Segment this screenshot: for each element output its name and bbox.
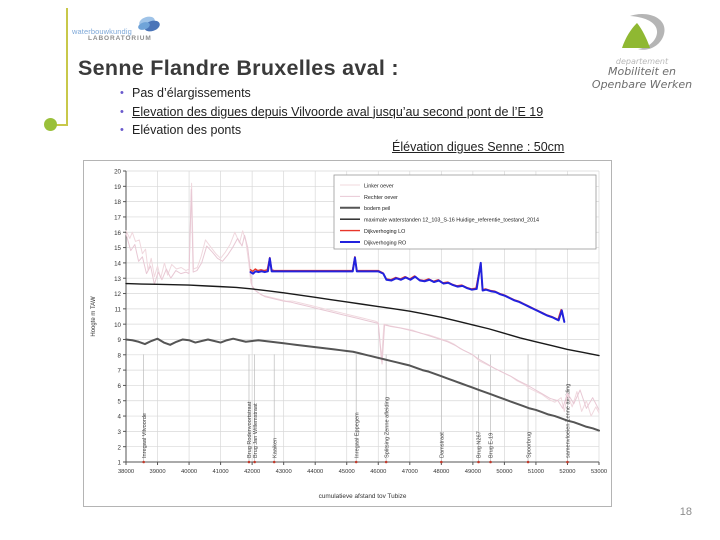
slide-number: 18 xyxy=(680,506,692,518)
mow-logo-mark xyxy=(614,12,670,56)
x-tick-label: 48000 xyxy=(433,469,449,475)
annotation-marker xyxy=(527,461,530,464)
y-axis-label: Hoogte m TAW xyxy=(91,296,97,337)
series-line xyxy=(251,258,565,322)
y-tick-label: 3 xyxy=(118,429,122,436)
annotation-label: Spoorbrug xyxy=(526,432,532,458)
bullet-text: Pas d’élargissements xyxy=(132,86,251,101)
x-tick-label: 38000 xyxy=(118,469,134,475)
mow-line-1: Mobiliteit en xyxy=(582,66,702,79)
accent-dot xyxy=(44,118,57,131)
legend-label: Dijkverhoging RO xyxy=(364,240,406,246)
y-tick-label: 17 xyxy=(114,215,121,222)
x-tick-label: 42000 xyxy=(244,469,260,475)
bullet-item: •Elévation des ponts xyxy=(120,123,620,138)
annotation-marker xyxy=(248,461,251,464)
y-tick-label: 15 xyxy=(114,245,121,252)
annotation-marker xyxy=(273,461,276,464)
legend-label: bodem peil xyxy=(364,206,390,212)
bullet-text: Elévation des ponts xyxy=(132,123,241,138)
x-tick-label: 41000 xyxy=(213,469,229,475)
annotation-marker xyxy=(355,461,358,464)
annotation-marker xyxy=(385,461,388,464)
chart-svg: 1234567891011121314151617181920380003900… xyxy=(84,161,611,506)
legend-label: Linker oever xyxy=(364,183,394,189)
y-tick-label: 18 xyxy=(114,199,121,206)
y-tick-label: 9 xyxy=(118,337,122,344)
annotation-label: Damstraat xyxy=(440,432,446,458)
bullet-list: •Pas d’élargissements•Elevation des digu… xyxy=(120,86,620,142)
x-tick-label: 47000 xyxy=(402,469,418,475)
y-tick-label: 12 xyxy=(114,291,121,298)
y-tick-label: 4 xyxy=(118,414,122,421)
annotation-label: Kaaiken xyxy=(272,438,278,458)
x-tick-label: 51000 xyxy=(528,469,544,475)
annotation-label: Brug Jan Willemstraat xyxy=(253,403,259,458)
x-tick-label: 49000 xyxy=(465,469,481,475)
annotation-marker xyxy=(142,461,145,464)
y-tick-label: 8 xyxy=(118,352,122,359)
legend-label: Dijkverhoging LO xyxy=(364,229,405,235)
y-tick-label: 16 xyxy=(114,230,121,237)
slide: waterbouwkundig LABORATORIUM departement… xyxy=(0,0,720,540)
page-title: Senne Flandre Bruxelles aval : xyxy=(78,56,399,81)
bullet-item: •Elevation des digues depuis Vilvoorde a… xyxy=(120,105,620,120)
mow-logo: departement Mobiliteit en Openbare Werke… xyxy=(582,12,702,94)
y-tick-label: 20 xyxy=(114,169,121,176)
bullet-text: Elevation des digues depuis Vilvoorde av… xyxy=(132,105,543,120)
x-tick-label: 53000 xyxy=(591,469,607,475)
annotation-label: Inregaal Eppegem xyxy=(354,412,360,458)
x-tick-label: 46000 xyxy=(370,469,386,475)
y-tick-label: 2 xyxy=(118,444,122,451)
annotation-label: Splitsing Zenne afleiding xyxy=(384,397,390,458)
x-tick-label: 45000 xyxy=(339,469,355,475)
x-axis-label: cumulatieve afstand tov Tubize xyxy=(319,493,407,500)
waterbouwkundig-logo-subtitle: LABORATORIUM xyxy=(88,35,152,42)
y-tick-label: 11 xyxy=(115,306,122,313)
y-tick-label: 1 xyxy=(118,460,122,467)
y-tick-label: 6 xyxy=(118,383,122,390)
waterbouwkundig-logo-mark xyxy=(134,16,162,34)
annotation-marker xyxy=(253,461,256,464)
x-tick-label: 52000 xyxy=(559,469,575,475)
bullet-item: •Pas d’élargissements xyxy=(120,86,620,101)
annotation-label: Inregaal Vilvoorde xyxy=(142,413,148,458)
x-tick-label: 44000 xyxy=(307,469,323,475)
x-tick-label: 43000 xyxy=(276,469,292,475)
chart-container: 1234567891011121314151617181920380003900… xyxy=(83,160,612,507)
annotation-marker xyxy=(566,461,569,464)
accent-vertical-line xyxy=(66,8,68,126)
legend-label: maximale waterstanden 12_103_S-16 Huidig… xyxy=(364,218,539,224)
y-tick-label: 14 xyxy=(114,260,121,267)
y-tick-label: 7 xyxy=(118,368,122,375)
bullet-dot-icon: • xyxy=(120,86,132,101)
x-tick-label: 50000 xyxy=(496,469,512,475)
legend-label: Rechter oever xyxy=(364,195,398,201)
waterbouwkundig-logo: waterbouwkundig LABORATORIUM xyxy=(72,16,164,48)
bullet-dot-icon: • xyxy=(120,105,132,120)
annotation-label: Brug N267 xyxy=(477,431,483,458)
annotation-marker xyxy=(440,461,443,464)
x-tick-label: 39000 xyxy=(149,469,165,475)
annotation-marker xyxy=(477,461,480,464)
chart-subtitle: Élévation digues Senne : 50cm xyxy=(392,140,564,154)
bullet-dot-icon: • xyxy=(120,123,132,138)
y-tick-label: 5 xyxy=(118,398,122,405)
y-tick-label: 13 xyxy=(114,276,121,283)
y-tick-label: 19 xyxy=(114,184,121,191)
y-tick-label: 10 xyxy=(114,322,121,329)
annotation-marker xyxy=(489,461,492,464)
x-tick-label: 40000 xyxy=(181,469,197,475)
annotation-label: Brug E-19 xyxy=(489,433,495,458)
